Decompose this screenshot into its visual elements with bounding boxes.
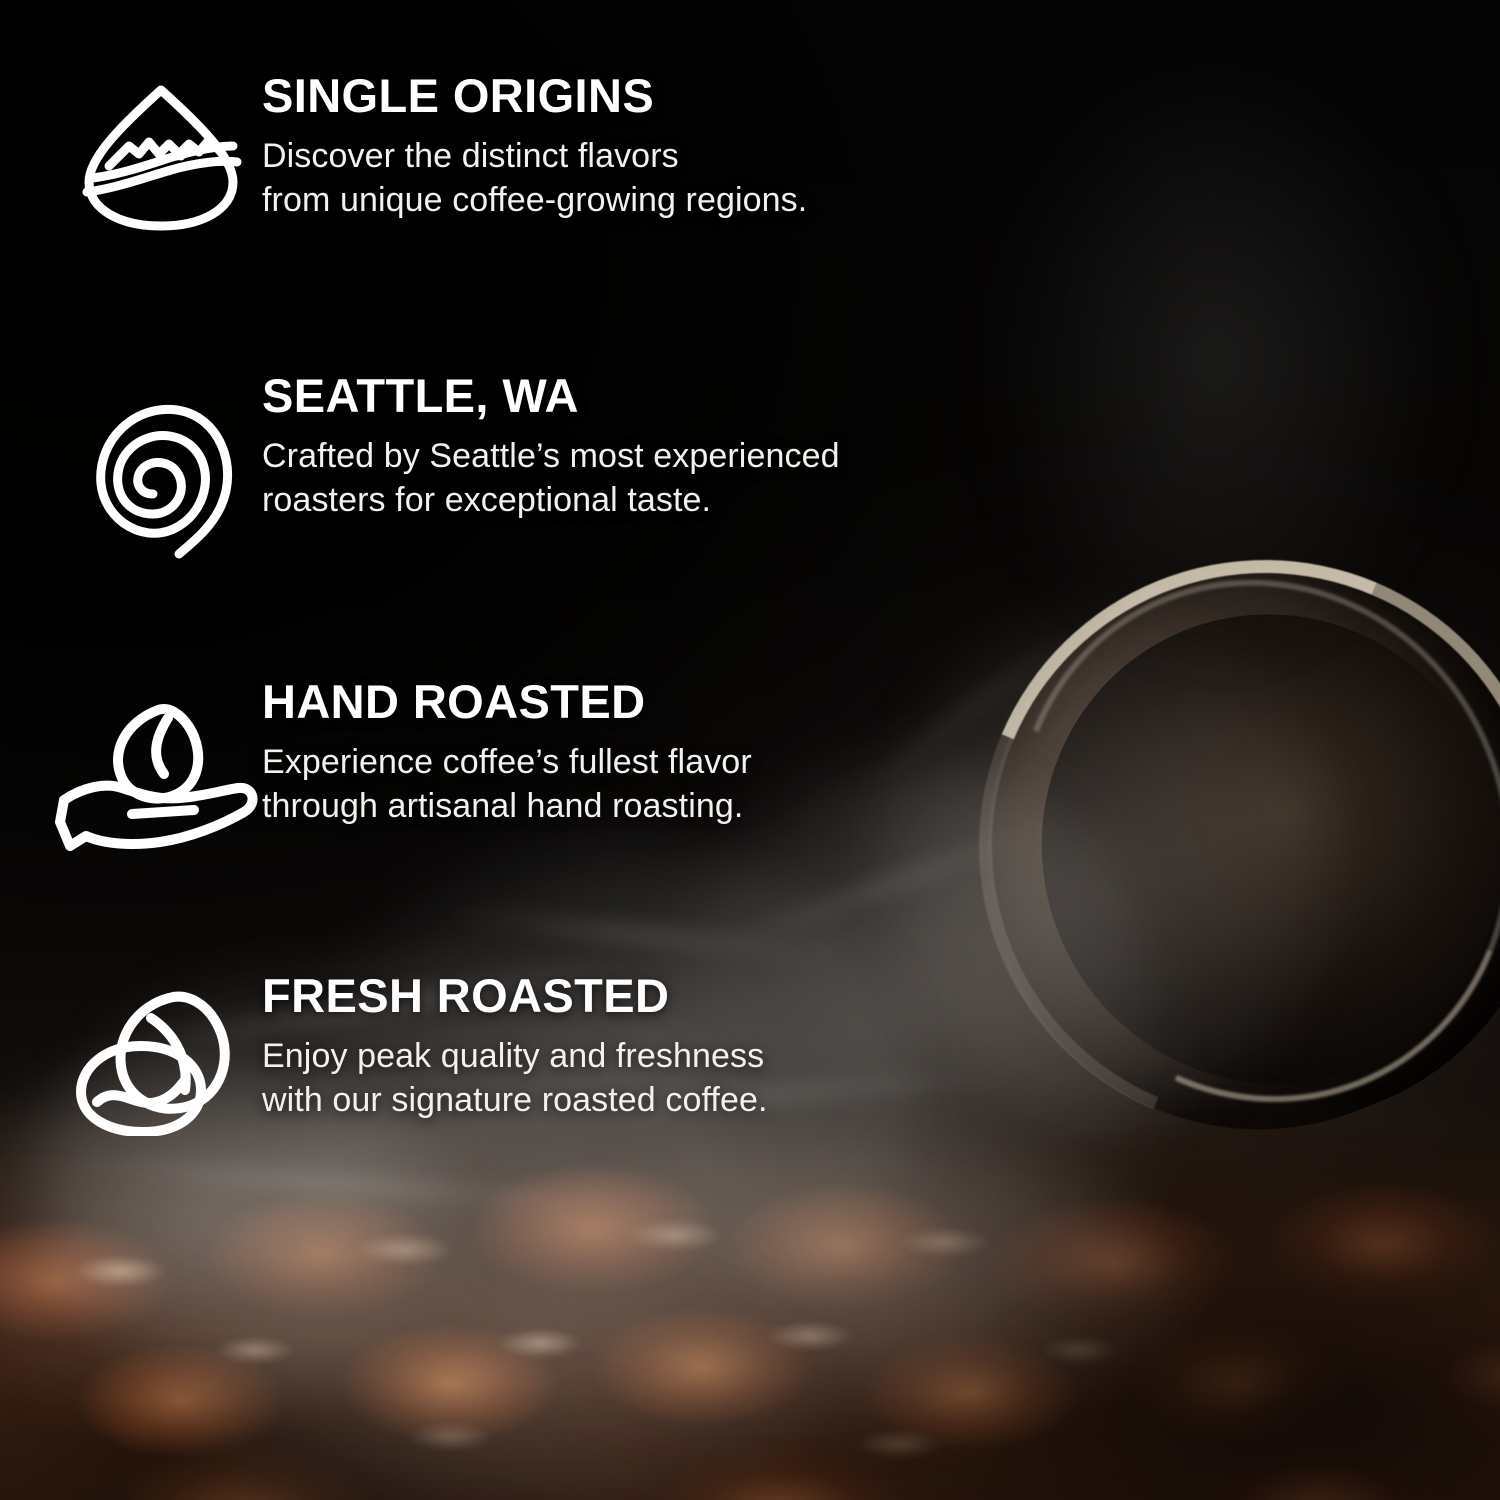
two-beans-icon bbox=[62, 972, 262, 1136]
desc-line: from unique coffee-growing regions. bbox=[262, 179, 807, 223]
fingerprint-icon bbox=[62, 372, 262, 572]
feature-description: Crafted by Seattle’s most experienced ro… bbox=[262, 435, 840, 522]
feature-item-fresh-roasted: FRESH ROASTED Enjoy peak quality and fre… bbox=[62, 972, 768, 1136]
coffee-beans-heap bbox=[0, 1100, 1500, 1500]
feature-description: Discover the distinct flavors from uniqu… bbox=[262, 135, 807, 222]
feature-title: SEATTLE, WA bbox=[262, 372, 840, 419]
feature-description: Experience coffee’s fullest flavor throu… bbox=[262, 741, 752, 828]
feature-text: SINGLE ORIGINS Discover the distinct fla… bbox=[262, 72, 807, 222]
feature-title: HAND ROASTED bbox=[262, 678, 752, 725]
desc-line: through artisanal hand roasting. bbox=[262, 785, 752, 829]
hand-holding-bean-icon bbox=[48, 678, 262, 864]
desc-line: Discover the distinct flavors bbox=[262, 135, 807, 179]
feature-title: SINGLE ORIGINS bbox=[262, 72, 807, 119]
desc-line: Crafted by Seattle’s most experienced bbox=[262, 435, 840, 479]
feature-title: FRESH ROASTED bbox=[262, 972, 768, 1019]
mountain-bean-icon bbox=[62, 72, 262, 232]
desc-line: Enjoy peak quality and freshness bbox=[262, 1035, 768, 1079]
desc-line: with our signature roasted coffee. bbox=[262, 1079, 768, 1123]
coffee-feature-panel: SINGLE ORIGINS Discover the distinct fla… bbox=[0, 0, 1500, 1500]
feature-text: SEATTLE, WA Crafted by Seattle’s most ex… bbox=[262, 372, 840, 522]
feature-text: FRESH ROASTED Enjoy peak quality and fre… bbox=[262, 972, 768, 1122]
feature-item-hand-roasted: HAND ROASTED Experience coffee’s fullest… bbox=[48, 678, 752, 864]
desc-line: roasters for exceptional taste. bbox=[262, 479, 840, 523]
feature-item-seattle-wa: SEATTLE, WA Crafted by Seattle’s most ex… bbox=[62, 372, 840, 572]
desc-line: Experience coffee’s fullest flavor bbox=[262, 741, 752, 785]
feature-description: Enjoy peak quality and freshness with ou… bbox=[262, 1035, 768, 1122]
feature-item-single-origins: SINGLE ORIGINS Discover the distinct fla… bbox=[62, 72, 807, 232]
feature-text: HAND ROASTED Experience coffee’s fullest… bbox=[262, 678, 752, 828]
